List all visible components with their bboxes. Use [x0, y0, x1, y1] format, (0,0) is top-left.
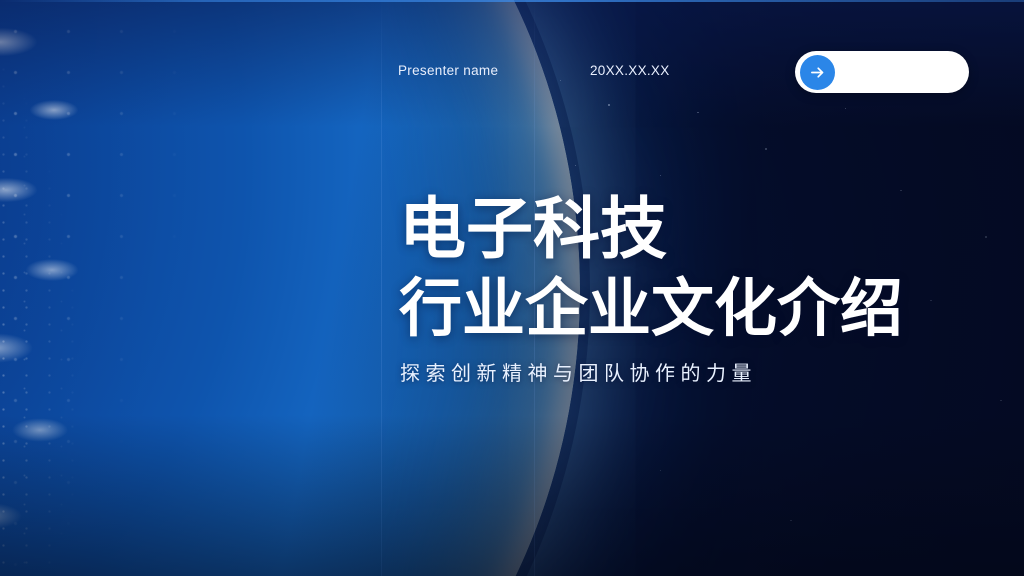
- top-edge-highlight: [0, 0, 1024, 2]
- arrow-right-icon[interactable]: [800, 55, 835, 90]
- title-slide: Presenter name 20XX.XX.XX 电子科技 行业企业文化介绍 …: [0, 0, 1024, 576]
- page-title-line-2: 行业企业文化介绍: [399, 277, 959, 340]
- presenter-name-label: Presenter name: [398, 63, 498, 78]
- page-title-line-1: 电子科技: [399, 196, 959, 263]
- date-label: 20XX.XX.XX: [590, 63, 670, 78]
- title-block: 电子科技 行业企业文化介绍: [399, 196, 959, 340]
- subtitle: 探索创新精神与团队协作的力量: [400, 357, 757, 386]
